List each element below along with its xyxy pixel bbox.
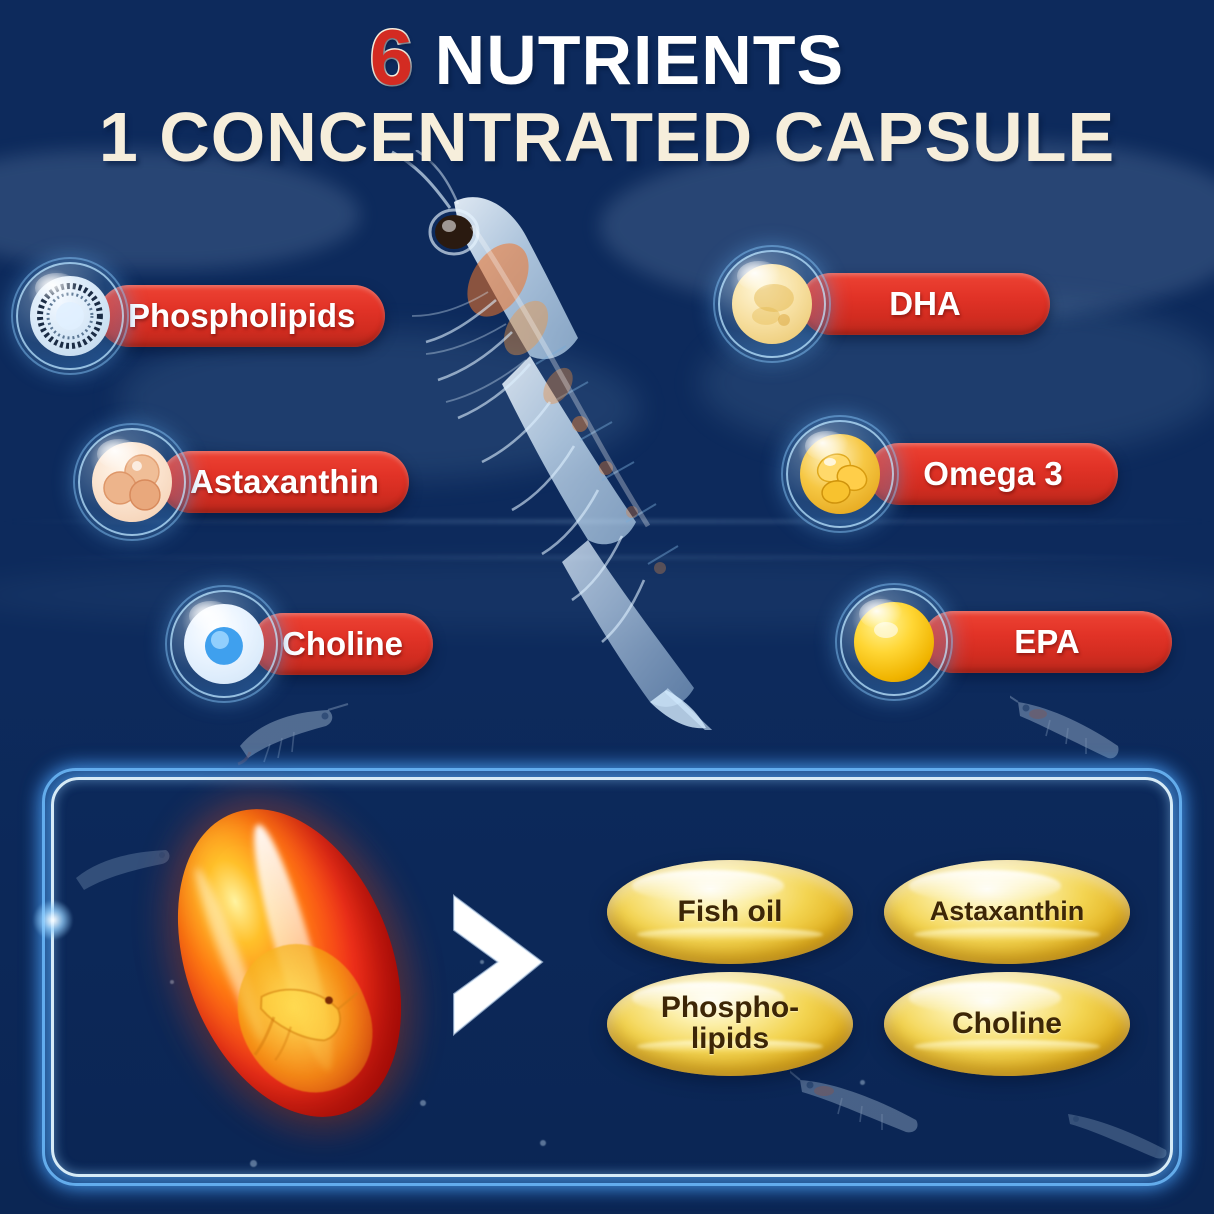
nutrient-label: Phospholipids [128, 297, 355, 335]
softgel-label: Choline [952, 1009, 1062, 1040]
nutrient-pill-phospholipids[interactable]: Phospholipids [98, 285, 385, 347]
nutrient-pill-omega3[interactable]: Omega 3 [868, 443, 1118, 505]
title-line-2: 1 CONCENTRATED CAPSULE [0, 102, 1214, 173]
nutrient-label: Omega 3 [923, 455, 1062, 493]
nutrient-label: EPA [1014, 623, 1079, 661]
softgel-fish-oil[interactable]: Fish oil [607, 860, 853, 964]
nutrient-label: Astaxanthin [190, 463, 379, 501]
title-line-1: 6 NUTRIENTS [0, 18, 1214, 96]
softgel-label: Astaxanthin [930, 898, 1085, 926]
nutrient-count: 6 [370, 13, 414, 101]
softgel-label: Fish oil [678, 897, 783, 928]
omega3-orb-icon [786, 420, 894, 528]
epa-orb-icon [840, 588, 948, 696]
nutrient-pill-epa[interactable]: EPA [922, 611, 1172, 673]
dha-orb-icon [718, 250, 826, 358]
astaxanthin-orb-icon [78, 428, 186, 536]
liposome-orb-icon [16, 262, 124, 370]
softgel-phospholipids[interactable]: Phospho- lipids [607, 972, 853, 1076]
nutrient-badge-choline[interactable]: Choline [170, 590, 433, 698]
softgel-grid: Fish oil Astaxanthin Phospho- lipids Cho… [607, 860, 1147, 1076]
nutrient-badge-astaxanthin[interactable]: Astaxanthin [78, 428, 409, 536]
nutrient-badge-dha[interactable]: DHA [718, 250, 1050, 358]
softgel-label: Phospho- lipids [661, 993, 799, 1055]
nutrient-label: Choline [282, 625, 403, 663]
infographic-canvas: 6 NUTRIENTS 1 CONCENTRATED CAPSULE Phosp… [0, 0, 1214, 1214]
nutrient-pill-dha[interactable]: DHA [800, 273, 1050, 335]
nutrient-label: DHA [889, 285, 961, 323]
nutrient-badge-phospholipids[interactable]: Phospholipids [16, 262, 385, 370]
panel-glow-hotspot [33, 900, 73, 940]
page-title: 6 NUTRIENTS 1 CONCENTRATED CAPSULE [0, 18, 1214, 173]
small-krill-icon [1010, 690, 1140, 770]
comparison-panel: Fish oil Astaxanthin Phospho- lipids Cho… [42, 768, 1182, 1186]
nutrient-badge-omega3[interactable]: Omega 3 [786, 420, 1118, 528]
softgel-astaxanthin[interactable]: Astaxanthin [884, 860, 1130, 964]
nutrient-pill-astaxanthin[interactable]: Astaxanthin [160, 451, 409, 513]
choline-orb-icon [170, 590, 278, 698]
greater-than-icon [442, 890, 562, 1040]
nutrient-badge-epa[interactable]: EPA [840, 588, 1172, 696]
title-nutrients-word: NUTRIENTS [435, 21, 845, 99]
softgel-choline[interactable]: Choline [884, 972, 1130, 1076]
